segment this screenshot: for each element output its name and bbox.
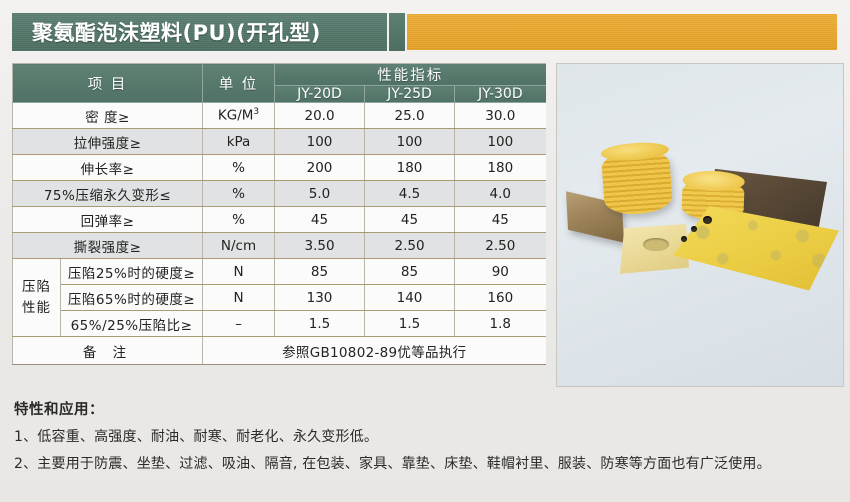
cell-hardness65-jy30d: 160 (455, 285, 546, 311)
header-model-jy25d: JY-25D (365, 86, 455, 103)
notes-title: 特性和应用： (14, 398, 836, 419)
table-row: 撕裂强度≥ N/cm 3.50 2.50 2.50 (13, 233, 546, 259)
table-row: 压陷65%时的硬度≥ N 130 140 160 (13, 285, 546, 311)
row-item-compression-set: 75%压缩永久变形≤ (13, 181, 203, 207)
cell-density-jy25d: 25.0 (365, 103, 455, 129)
unit-text: KG/M (218, 108, 254, 124)
cell-density-jy30d: 30.0 (455, 103, 546, 129)
row-unit-compression-set: % (203, 181, 275, 207)
row-item-hardness-25: 压陷25%时的硬度≥ (61, 259, 203, 285)
panel-hole-icon (691, 226, 697, 232)
row-unit-hardness-25: N (203, 259, 275, 285)
cell-compression-jy25d: 4.5 (365, 181, 455, 207)
row-unit-density: KG/M3 (203, 103, 275, 129)
cell-hardness25-jy30d: 90 (455, 259, 546, 285)
cell-density-jy20d: 20.0 (275, 103, 365, 129)
table-row-remark: 备 注 参照GB10802-89优等品执行 (13, 337, 546, 365)
row-item-indentation-ratio: 65%/25%压陷比≥ (61, 311, 203, 337)
row-unit-resilience: % (203, 207, 275, 233)
cell-hardness25-jy20d: 85 (275, 259, 365, 285)
cell-ratio-jy20d: 1.5 (275, 311, 365, 337)
cell-tear-jy20d: 3.50 (275, 233, 365, 259)
header-item: 项 目 (13, 64, 203, 103)
yellow-foam-disc-stack (601, 148, 673, 217)
row-unit-tear-strength: N/cm (203, 233, 275, 259)
cell-hardness65-jy20d: 130 (275, 285, 365, 311)
header-performance-group: 性能指标 (275, 64, 546, 86)
cell-elongation-jy20d: 200 (275, 155, 365, 181)
remark-value: 参照GB10802-89优等品执行 (203, 337, 546, 365)
header-banner-row: 聚氨酯泡沫塑料(PU)(开孔型) (0, 13, 850, 51)
unit-superscript: 3 (253, 107, 259, 117)
header-model-jy20d: JY-20D (275, 86, 365, 103)
row-group-label-indentation: 压陷 性能 (13, 259, 61, 337)
page-title: 聚氨酯泡沫塑料(PU)(开孔型) (12, 17, 321, 47)
note-line-2: 2、主要用于防震、坐垫、过滤、吸油、隔音, 在包装、家具、靠垫、床垫、鞋帽衬里、… (14, 454, 836, 474)
group-label-line-2: 性能 (13, 298, 60, 319)
cell-tensile-jy30d: 100 (455, 129, 546, 155)
cell-resilience-jy20d: 45 (275, 207, 365, 233)
row-item-tensile-strength: 拉伸强度≥ (13, 129, 203, 155)
header-unit: 单 位 (203, 64, 275, 103)
panel-hole-icon (681, 236, 687, 242)
row-item-elongation: 伸长率≥ (13, 155, 203, 181)
product-spec-page: 聚氨酯泡沫塑料(PU)(开孔型) 项 目 单 位 性能指标 JY-20D JY-… (0, 0, 850, 502)
cell-tear-jy25d: 2.50 (365, 233, 455, 259)
cell-hardness25-jy25d: 85 (365, 259, 455, 285)
cell-compression-jy20d: 5.0 (275, 181, 365, 207)
cell-compression-jy30d: 4.0 (455, 181, 546, 207)
features-and-applications: 特性和应用： 1、低容重、高强度、耐油、耐寒、耐老化、永久变形低。 2、主要用于… (14, 398, 836, 482)
row-item-tear-strength: 撕裂强度≥ (13, 233, 203, 259)
cell-tensile-jy20d: 100 (275, 129, 365, 155)
accent-square-divider (389, 13, 405, 51)
table-row: 压陷 性能 压陷25%时的硬度≥ N 85 85 90 (13, 259, 546, 285)
table-row: 65%/25%压陷比≥ – 1.5 1.5 1.8 (13, 311, 546, 337)
panel-hole-icon (703, 216, 712, 224)
cell-hardness65-jy25d: 140 (365, 285, 455, 311)
table-row: 75%压缩永久变形≤ % 5.0 4.5 4.0 (13, 181, 546, 207)
table-row: 密 度≥ KG/M3 20.0 25.0 30.0 (13, 103, 546, 129)
product-photo (556, 63, 844, 387)
table-row: 拉伸强度≥ kPa 100 100 100 (13, 129, 546, 155)
cell-resilience-jy30d: 45 (455, 207, 546, 233)
specification-table: 项 目 单 位 性能指标 JY-20D JY-25D JY-30D 密 度≥ K… (12, 63, 546, 365)
row-unit-indentation-ratio: – (203, 311, 275, 337)
table-row: 伸长率≥ % 200 180 180 (13, 155, 546, 181)
header-model-jy30d: JY-30D (455, 86, 546, 103)
group-label-line-1: 压陷 (13, 277, 60, 298)
orange-accent-banner (407, 14, 837, 50)
cell-ratio-jy25d: 1.5 (365, 311, 455, 337)
row-item-hardness-65: 压陷65%时的硬度≥ (61, 285, 203, 311)
cell-tensile-jy25d: 100 (365, 129, 455, 155)
row-unit-tensile-strength: kPa (203, 129, 275, 155)
cell-ratio-jy30d: 1.8 (455, 311, 546, 337)
cell-resilience-jy25d: 45 (365, 207, 455, 233)
note-line-1: 1、低容重、高强度、耐油、耐寒、耐老化、永久变形低。 (14, 427, 836, 447)
cell-elongation-jy30d: 180 (455, 155, 546, 181)
cell-tear-jy30d: 2.50 (455, 233, 546, 259)
remark-label: 备 注 (13, 337, 203, 365)
row-unit-hardness-65: N (203, 285, 275, 311)
table-header-row-1: 项 目 单 位 性能指标 (13, 64, 546, 86)
row-item-density: 密 度≥ (13, 103, 203, 129)
table-row: 回弹率≥ % 45 45 45 (13, 207, 546, 233)
cell-elongation-jy25d: 180 (365, 155, 455, 181)
row-unit-elongation: % (203, 155, 275, 181)
title-banner: 聚氨酯泡沫塑料(PU)(开孔型) (12, 13, 387, 51)
row-item-resilience: 回弹率≥ (13, 207, 203, 233)
